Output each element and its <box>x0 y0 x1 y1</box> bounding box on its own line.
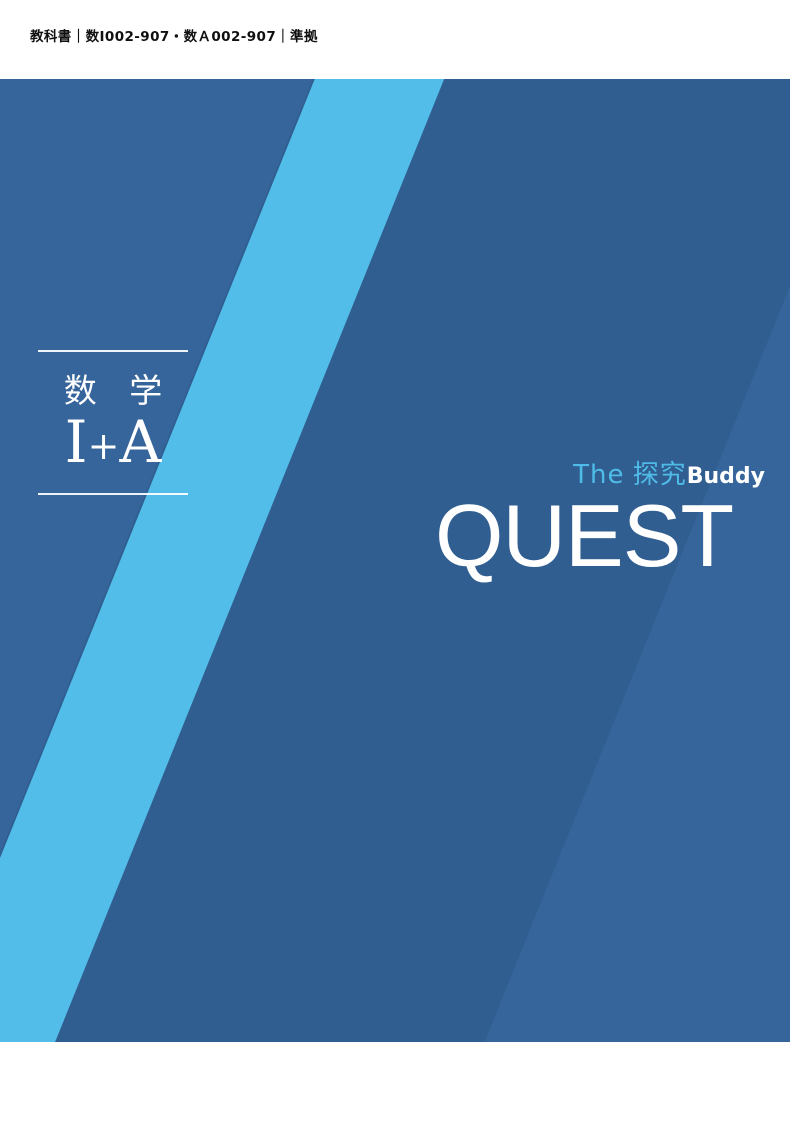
book-cover: 教科書｜数Ⅰ002-907・数Ａ002-907｜準拠 数 学 I+A The 探… <box>0 0 790 1121</box>
subject-level-plus: + <box>88 424 120 468</box>
quest-tagline: The 探究Buddy <box>435 462 765 488</box>
subject-rule-bottom <box>38 493 188 495</box>
subject-name: 数 学 <box>38 374 188 407</box>
subject-level-suffix: A <box>119 408 161 476</box>
subject-level-prefix: I <box>65 408 88 476</box>
footer-band: 東京書籍 <box>0 1042 790 1121</box>
quest-logo-block: The 探究Buddy QUEST <box>435 462 765 578</box>
quest-wordmark: QUEST <box>435 494 765 578</box>
header-band: 教科書｜数Ⅰ002-907・数Ａ002-907｜準拠 <box>0 0 790 79</box>
subject-level: I+A <box>38 413 188 471</box>
subject-rule-top <box>38 350 188 352</box>
textbook-reference-line: 教科書｜数Ⅰ002-907・数Ａ002-907｜準拠 <box>30 31 318 45</box>
subject-title-block: 数 学 I+A <box>38 350 188 495</box>
